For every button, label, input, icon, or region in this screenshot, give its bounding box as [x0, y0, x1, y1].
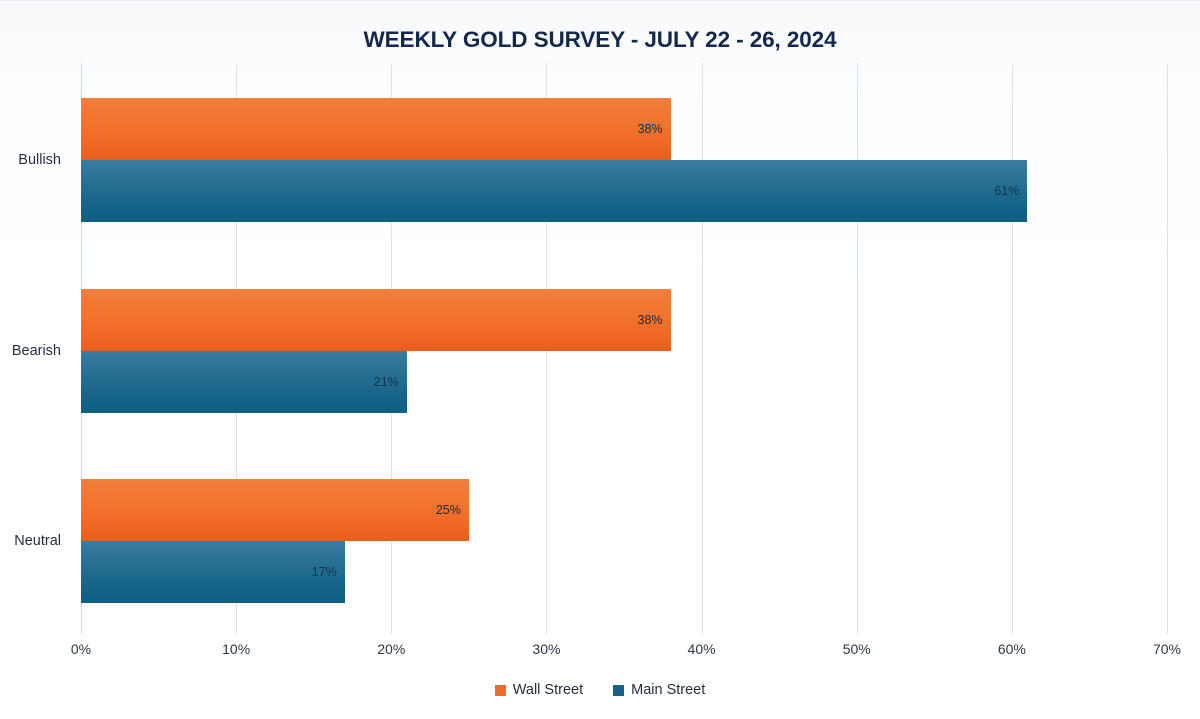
x-tick-label-30: 30% [532, 641, 560, 657]
gridline-70 [1167, 63, 1168, 634]
bar-bullish-main-street: 61% [81, 160, 1027, 222]
bar-value-label: 25% [436, 503, 461, 517]
bar-value-label: 17% [312, 565, 337, 579]
x-tick-label-60: 60% [998, 641, 1026, 657]
gridline-50 [857, 63, 858, 634]
x-tick-label-40: 40% [688, 641, 716, 657]
bar-value-label: 38% [638, 122, 663, 136]
bar-bullish-wall-street: 38% [81, 98, 671, 160]
legend-item-wall-street[interactable]: Wall Street [495, 682, 583, 698]
bar-neutral-wall-street: 25% [81, 479, 469, 541]
category-label-neutral: Neutral [14, 533, 61, 549]
plot-area: 38%61%38%21%25%17% [81, 63, 1167, 606]
x-axis-ticks: 0%10%20%30%40%50%60%70% [0, 641, 1200, 665]
chart-legend: Wall StreetMain Street [0, 682, 1200, 698]
x-tick-label-50: 50% [843, 641, 871, 657]
legend-label: Wall Street [513, 682, 583, 698]
category-label-bullish: Bullish [18, 152, 61, 168]
bar-neutral-main-street: 17% [81, 541, 345, 603]
x-tick-label-10: 10% [222, 641, 250, 657]
chart-container: WEEKLY GOLD SURVEY - JULY 22 - 26, 2024 … [0, 0, 1200, 719]
bar-bearish-wall-street: 38% [81, 289, 671, 351]
x-tick-label-70: 70% [1153, 641, 1181, 657]
chart-title: WEEKLY GOLD SURVEY - JULY 22 - 26, 2024 [0, 27, 1200, 53]
bar-value-label: 38% [638, 313, 663, 327]
wall-street-swatch [495, 685, 506, 696]
bar-value-label: 61% [994, 184, 1019, 198]
bar-bearish-main-street: 21% [81, 351, 407, 413]
x-tick-label-0: 0% [71, 641, 91, 657]
category-label-bearish: Bearish [12, 343, 61, 359]
main-street-swatch [613, 685, 624, 696]
legend-label: Main Street [631, 682, 705, 698]
bar-value-label: 21% [374, 375, 399, 389]
gridline-40 [702, 63, 703, 634]
legend-item-main-street[interactable]: Main Street [613, 682, 705, 698]
x-tick-label-20: 20% [377, 641, 405, 657]
gridline-60 [1012, 63, 1013, 634]
